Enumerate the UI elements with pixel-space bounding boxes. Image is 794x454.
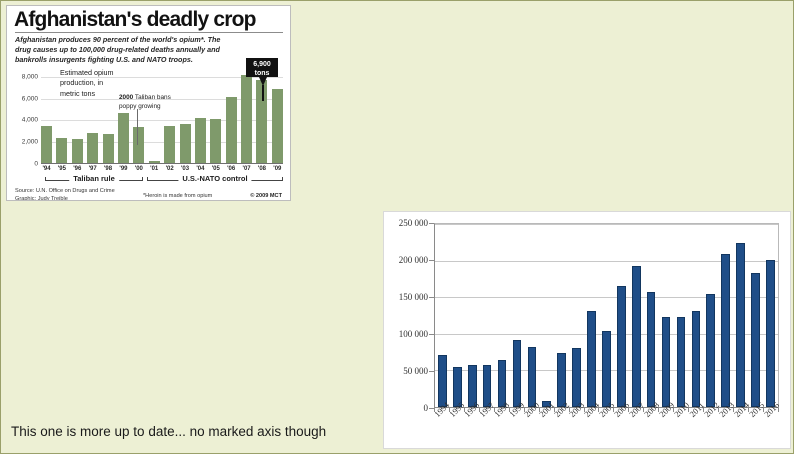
mct-xtick-label: '95 <box>56 166 67 172</box>
mct-era-taliban: Taliban rule <box>45 176 143 186</box>
mct-annotation-estimate: Estimated opium production, in metric to… <box>60 68 118 99</box>
excel-xtick-slot: 2009 <box>659 409 674 449</box>
excel-bar-series <box>435 224 778 407</box>
excel-bar-slot <box>569 224 584 407</box>
excel-bar-slot <box>629 224 644 407</box>
mct-xtick-label: '04 <box>195 166 206 172</box>
excel-bar-slot <box>763 224 778 407</box>
excel-bar-slot <box>539 224 554 407</box>
mct-opium-graphic: Afghanistan's deadly crop Afghanistan pr… <box>6 5 291 201</box>
excel-bar-slot <box>718 224 733 407</box>
excel-bar-slot <box>584 224 599 407</box>
excel-xtick-slot: 2002 <box>554 409 569 449</box>
mct-ytick-0: 0 <box>34 161 38 168</box>
excel-bar <box>677 317 686 407</box>
excel-bar-slot <box>674 224 689 407</box>
mct-bar <box>149 161 160 163</box>
mct-annotation-leader-line <box>137 109 138 145</box>
page-caption: This one is more up to date... no marked… <box>11 424 326 439</box>
mct-callout-stem <box>262 85 264 101</box>
era-bracket-tick-right <box>282 177 283 181</box>
excel-bar-slot <box>524 224 539 407</box>
mct-bar <box>272 89 283 163</box>
excel-bar <box>438 355 447 407</box>
mct-era-nato: U.S.-NATO control <box>147 176 283 186</box>
mct-bar <box>56 138 67 163</box>
mct-bar <box>87 133 98 163</box>
excel-bar-slot <box>659 224 674 407</box>
excel-xtick-slot: 1998 <box>494 409 509 449</box>
excel-xtick-slot: 2004 <box>584 409 599 449</box>
excel-xtick-slot: 2007 <box>629 409 644 449</box>
excel-xtick-slot: 2010 <box>674 409 689 449</box>
excel-bar <box>662 317 671 407</box>
mct-credits: Source: U.N. Office on Drugs and Crime G… <box>15 187 115 201</box>
mct-bar <box>241 75 252 163</box>
mct-xtick-label: '94 <box>41 166 52 172</box>
excel-bar-slot <box>688 224 703 407</box>
excel-xtick-slot: 2000 <box>524 409 539 449</box>
mct-xtick-label: '96 <box>72 166 83 172</box>
excel-bar-slot <box>510 224 525 407</box>
excel-bar <box>572 348 581 407</box>
excel-bar <box>528 347 537 407</box>
excel-ytick-label: 100 000 <box>399 329 428 339</box>
excel-xtick-slot: 2013 <box>719 409 734 449</box>
excel-xtick-slot: 2011 <box>689 409 704 449</box>
mct-bar <box>210 119 221 163</box>
excel-bar <box>721 254 730 407</box>
excel-bar <box>602 331 611 407</box>
excel-ytick-label: 50 000 <box>403 366 428 376</box>
excel-bar <box>587 311 596 407</box>
excel-xtick-slot: 2006 <box>614 409 629 449</box>
mct-xtick-label: '06 <box>226 166 237 172</box>
mct-bar <box>118 113 129 163</box>
mct-annotation-ban: 2000 Taliban bans poppy growing <box>119 94 185 111</box>
mct-xtick-label: '98 <box>103 166 114 172</box>
era-bracket-tick-left <box>45 177 46 181</box>
mct-ytick-6000: 6,000 <box>22 95 38 102</box>
mct-xtick-label: '09 <box>272 166 283 172</box>
excel-ytick-label: 150 000 <box>399 292 428 302</box>
excel-bar-slot <box>435 224 450 407</box>
mct-y-axis-labels: 8,000 6,000 4,000 2,000 0 <box>11 66 38 164</box>
era-bracket-tick-left <box>147 177 148 181</box>
excel-bar-slot <box>495 224 510 407</box>
excel-xtick-slot: 2003 <box>569 409 584 449</box>
mct-bar <box>41 126 52 163</box>
mct-xtick-label: '00 <box>133 166 144 172</box>
mct-bar <box>226 97 237 163</box>
mct-bar <box>103 134 114 163</box>
excel-bar <box>766 260 775 407</box>
mct-axis-baseline <box>41 163 283 164</box>
mct-xtick-label: '08 <box>256 166 267 172</box>
mct-callout-value: 6,900 <box>246 60 278 69</box>
excel-bar-slot <box>450 224 465 407</box>
excel-plot-area <box>434 223 779 408</box>
excel-xtick-slot: 1997 <box>479 409 494 449</box>
excel-xtick-slot: 2012 <box>704 409 719 449</box>
excel-bar-slot <box>554 224 569 407</box>
excel-bar <box>692 311 701 407</box>
mct-bar <box>72 139 83 163</box>
mct-bar <box>180 124 191 163</box>
excel-xtick-slot: 2015 <box>749 409 764 449</box>
excel-bar-slot <box>614 224 629 407</box>
mct-footnote: *Heroin is made from opium <box>143 193 212 199</box>
mct-source: Source: U.N. Office on Drugs and Crime <box>15 187 115 195</box>
mct-xtick-label: '03 <box>180 166 191 172</box>
excel-bar <box>617 286 626 407</box>
excel-xtick-slot: 2001 <box>539 409 554 449</box>
page-title: Afghanistan's deadly crop <box>14 9 256 31</box>
headline-rule <box>15 32 283 33</box>
mct-graphic-credit: Graphic: Judy Treible <box>15 195 115 201</box>
mct-xtick-label: '05 <box>210 166 221 172</box>
excel-bar-slot <box>599 224 614 407</box>
mct-bar <box>133 127 144 163</box>
mct-xtick-label: '97 <box>87 166 98 172</box>
mct-xtick-label: '02 <box>164 166 175 172</box>
excel-ytick-label: 250 000 <box>399 218 428 228</box>
excel-opium-chart: 050 000100 000150 000200 000250 000 1994… <box>383 211 791 449</box>
excel-bar-slot <box>480 224 495 407</box>
excel-bar-slot <box>465 224 480 407</box>
era-bracket-tick-right <box>142 177 143 181</box>
excel-xtick-slot: 1999 <box>509 409 524 449</box>
mct-ytick-2000: 2,000 <box>22 139 38 146</box>
mct-x-axis-labels: '94'95'96'97'98'99'00'01'02'03'04'05'06'… <box>41 166 283 172</box>
excel-bar-slot <box>644 224 659 407</box>
mct-xtick-label: '07 <box>241 166 252 172</box>
excel-bar <box>736 243 745 407</box>
excel-bar <box>632 266 641 407</box>
excel-xtick-slot: 2016 <box>764 409 779 449</box>
era-label: Taliban rule <box>69 174 119 183</box>
mct-xtick-label: '01 <box>149 166 160 172</box>
mct-annotation-ban-year: 2000 <box>119 94 133 101</box>
excel-y-axis-labels: 050 000100 000150 000200 000250 000 <box>384 223 428 408</box>
excel-bar-slot <box>748 224 763 407</box>
deck-text: Afghanistan produces 90 percent of the w… <box>15 35 230 65</box>
mct-ytick-8000: 8,000 <box>22 73 38 80</box>
mct-footer: Source: U.N. Office on Drugs and Crime G… <box>15 187 282 201</box>
excel-xtick-slot: 2008 <box>644 409 659 449</box>
excel-xtick-slot: 1995 <box>449 409 464 449</box>
mct-bar <box>195 118 206 163</box>
excel-bar-slot <box>733 224 748 407</box>
excel-bar <box>751 273 760 407</box>
mct-ytick-4000: 4,000 <box>22 117 38 124</box>
excel-bar <box>706 294 715 407</box>
excel-x-axis-labels: 1994199519961997199819992000200120022003… <box>434 409 779 449</box>
excel-bar <box>557 353 566 407</box>
mct-copyright: © 2009 MCT <box>250 193 282 199</box>
excel-bar <box>647 292 656 407</box>
excel-xtick-slot: 2005 <box>599 409 614 449</box>
era-label: U.S.-NATO control <box>178 174 251 183</box>
excel-xtick-slot: 2014 <box>734 409 749 449</box>
page-root: Afghanistan's deadly crop Afghanistan pr… <box>0 0 794 454</box>
mct-bar <box>164 126 175 163</box>
mct-callout-badge: 6,900 tons <box>246 58 278 77</box>
excel-xtick-slot: 1994 <box>434 409 449 449</box>
excel-bar-slot <box>703 224 718 407</box>
excel-xtick-slot: 1996 <box>464 409 479 449</box>
mct-xtick-label: '99 <box>118 166 129 172</box>
excel-ytick-label: 200 000 <box>399 255 428 265</box>
excel-bar <box>513 340 522 407</box>
